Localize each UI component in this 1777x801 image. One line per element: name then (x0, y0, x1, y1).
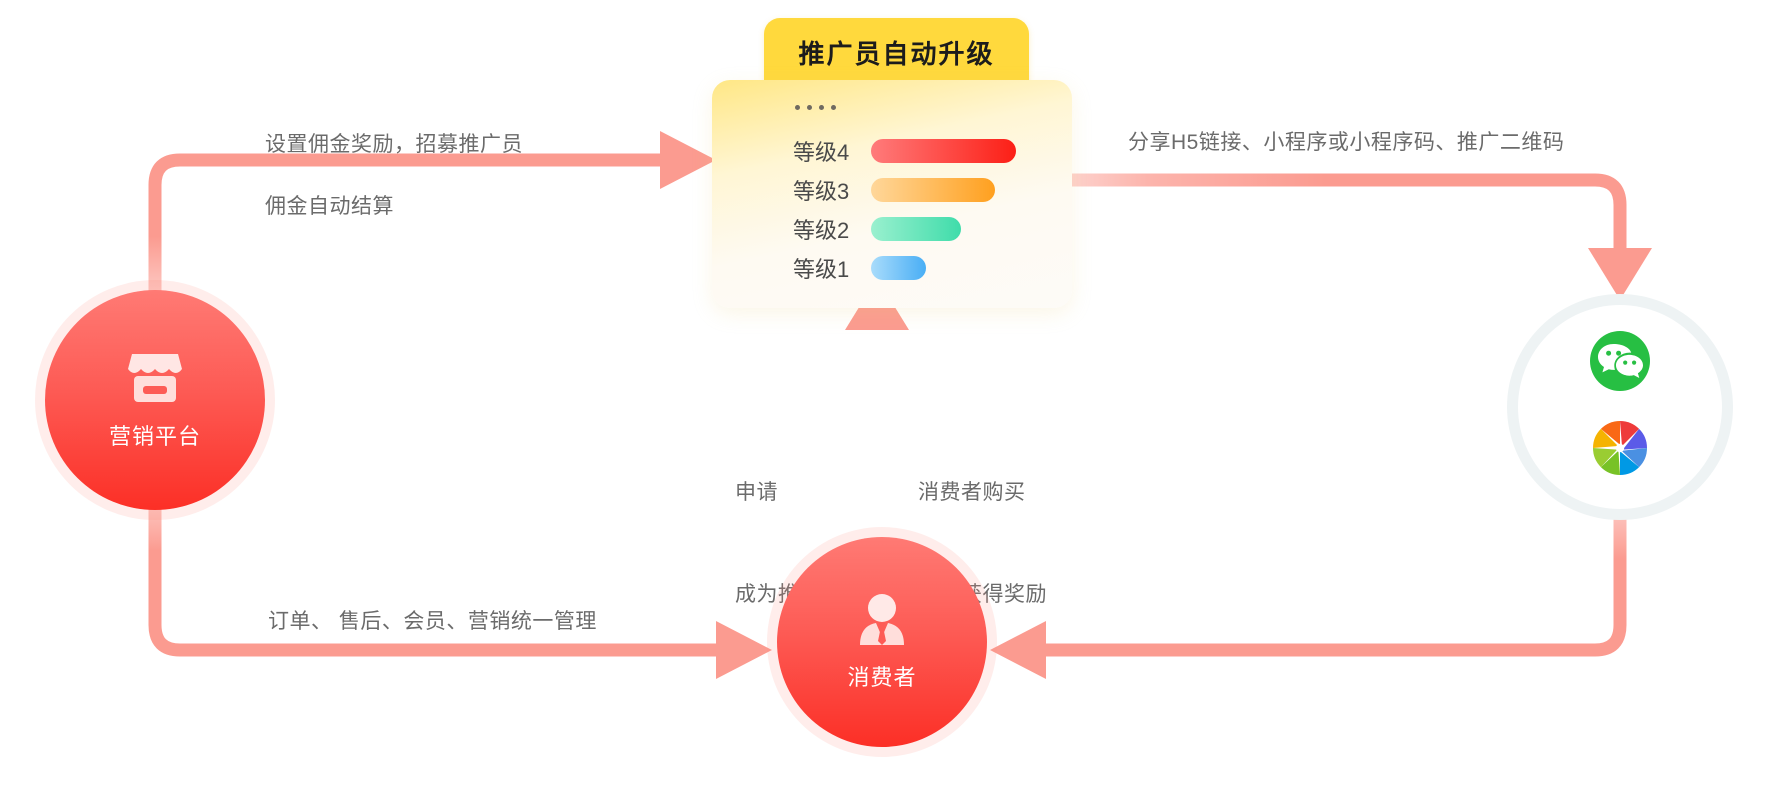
node-consumer[interactable]: 消费者 (777, 537, 987, 747)
node-marketing-platform[interactable]: 营销平台 (45, 290, 265, 510)
level-bar (871, 217, 961, 241)
node-channels[interactable] (1518, 305, 1722, 509)
diagram-canvas: 设置佣金奖励，招募推广员 佣金自动结算 分享H5链接、小程序或小程序码、推广二维… (0, 0, 1777, 801)
node-label-platform: 营销平台 (109, 419, 201, 451)
level-name: 等级3 (793, 174, 871, 206)
level-bar (871, 256, 926, 280)
card-title: 推广员自动升级 (798, 34, 994, 71)
purchase-line-1: 消费者购买 (918, 476, 1047, 510)
wechat-icon[interactable] (1590, 331, 1650, 396)
promoter-upgrade-card: 推广员自动升级 等级4 等级3 等级2 等级1 (712, 18, 1072, 328)
card-title-tab: 推广员自动升级 (764, 18, 1029, 86)
level-row: 等级1 (793, 252, 926, 284)
level-bar (871, 178, 995, 202)
level-name: 等级1 (793, 252, 871, 284)
apply-line-1: 申请 (735, 476, 843, 510)
edge-label-card-to-channels: 分享H5链接、小程序或小程序码、推广二维码 (1128, 126, 1564, 160)
edge-channels-to-consumer (990, 485, 1620, 679)
card-body: 等级4 等级3 等级2 等级1 (712, 80, 1072, 308)
level-name: 等级4 (793, 135, 871, 167)
node-label-consumer: 消费者 (847, 660, 916, 692)
shop-icon (126, 350, 184, 411)
edge-platform-to-consumer (155, 470, 772, 679)
edge-label-platform-to-card: 设置佣金奖励，招募推广员 (265, 128, 523, 162)
level-row: 等级4 (793, 135, 1016, 167)
level-bar (871, 139, 1016, 163)
edge-label-commission-settle: 佣金自动结算 (265, 190, 394, 224)
mini-program-icon[interactable] (1590, 418, 1650, 483)
edge-label-platform-to-consumer: 订单、 售后、会员、营销统一管理 (268, 605, 597, 639)
level-row: 等级2 (793, 213, 961, 245)
ellipsis-icon (795, 105, 836, 110)
level-name: 等级2 (793, 213, 871, 245)
level-row: 等级3 (793, 174, 995, 206)
user-tie-icon (854, 593, 910, 652)
